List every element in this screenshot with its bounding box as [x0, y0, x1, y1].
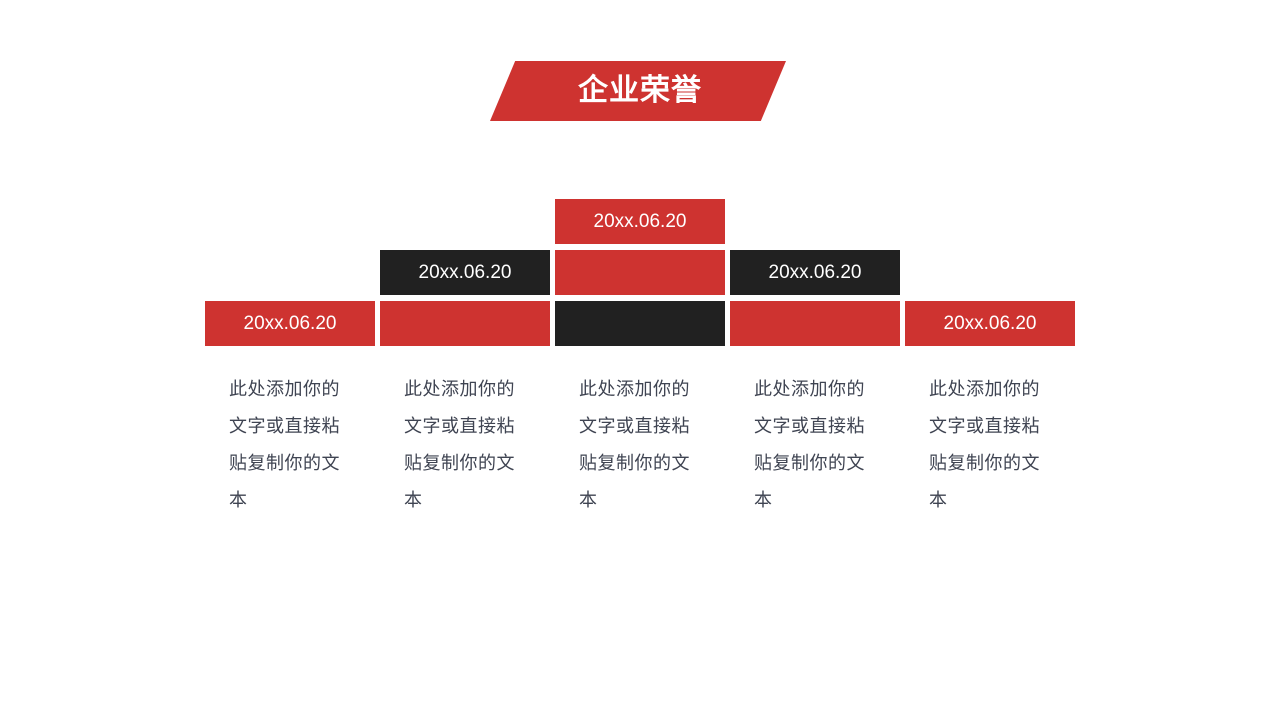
chart-cell[interactable] [730, 301, 900, 346]
caption-item: 此处添加你的文字或直接粘贴复制你的文本 [555, 371, 725, 519]
chart-cell[interactable] [555, 301, 725, 346]
chart-cell [380, 199, 550, 244]
chart-cell[interactable] [555, 250, 725, 295]
chart-cell-label: 20xx.06.20 [244, 314, 337, 333]
chart-cell-label: 20xx.06.20 [769, 263, 862, 282]
caption-item: 此处添加你的文字或直接粘贴复制你的文本 [205, 371, 375, 519]
chart-cell-label: 20xx.06.20 [419, 263, 512, 282]
chart-cell[interactable]: 20xx.06.20 [905, 301, 1075, 346]
chart-cell-label: 20xx.06.20 [594, 212, 687, 231]
chart-cell[interactable]: 20xx.06.20 [205, 301, 375, 346]
chart-cell [905, 199, 1075, 244]
chart-row-bottom: 20xx.06.20 20xx.06.20 [205, 301, 1075, 346]
caption-text: 此处添加你的文字或直接粘贴复制你的文本 [929, 371, 1049, 519]
chart-cell[interactable]: 20xx.06.20 [380, 250, 550, 295]
caption-text: 此处添加你的文字或直接粘贴复制你的文本 [229, 371, 349, 519]
page-title: 企业荣誉 [574, 76, 702, 106]
caption-text: 此处添加你的文字或直接粘贴复制你的文本 [404, 371, 524, 519]
chart-cell [205, 199, 375, 244]
caption-text: 此处添加你的文字或直接粘贴复制你的文本 [579, 371, 699, 519]
chart-cell[interactable]: 20xx.06.20 [730, 250, 900, 295]
slide-title-banner: 企业荣誉 [490, 61, 786, 121]
chart-cell [730, 199, 900, 244]
caption-text: 此处添加你的文字或直接粘贴复制你的文本 [754, 371, 874, 519]
chart-cell [205, 250, 375, 295]
chart-cell [905, 250, 1075, 295]
honor-pyramid-chart: 20xx.06.20 20xx.06.20 20xx.06.20 20xx.06… [205, 199, 1075, 346]
chart-cell[interactable] [380, 301, 550, 346]
chart-row-top: 20xx.06.20 [205, 199, 1075, 244]
caption-item: 此处添加你的文字或直接粘贴复制你的文本 [730, 371, 900, 519]
caption-item: 此处添加你的文字或直接粘贴复制你的文本 [380, 371, 550, 519]
chart-cell-label: 20xx.06.20 [944, 314, 1037, 333]
caption-item: 此处添加你的文字或直接粘贴复制你的文本 [905, 371, 1075, 519]
chart-cell[interactable]: 20xx.06.20 [555, 199, 725, 244]
caption-row: 此处添加你的文字或直接粘贴复制你的文本 此处添加你的文字或直接粘贴复制你的文本 … [205, 371, 1075, 519]
chart-row-middle: 20xx.06.20 20xx.06.20 [205, 250, 1075, 295]
